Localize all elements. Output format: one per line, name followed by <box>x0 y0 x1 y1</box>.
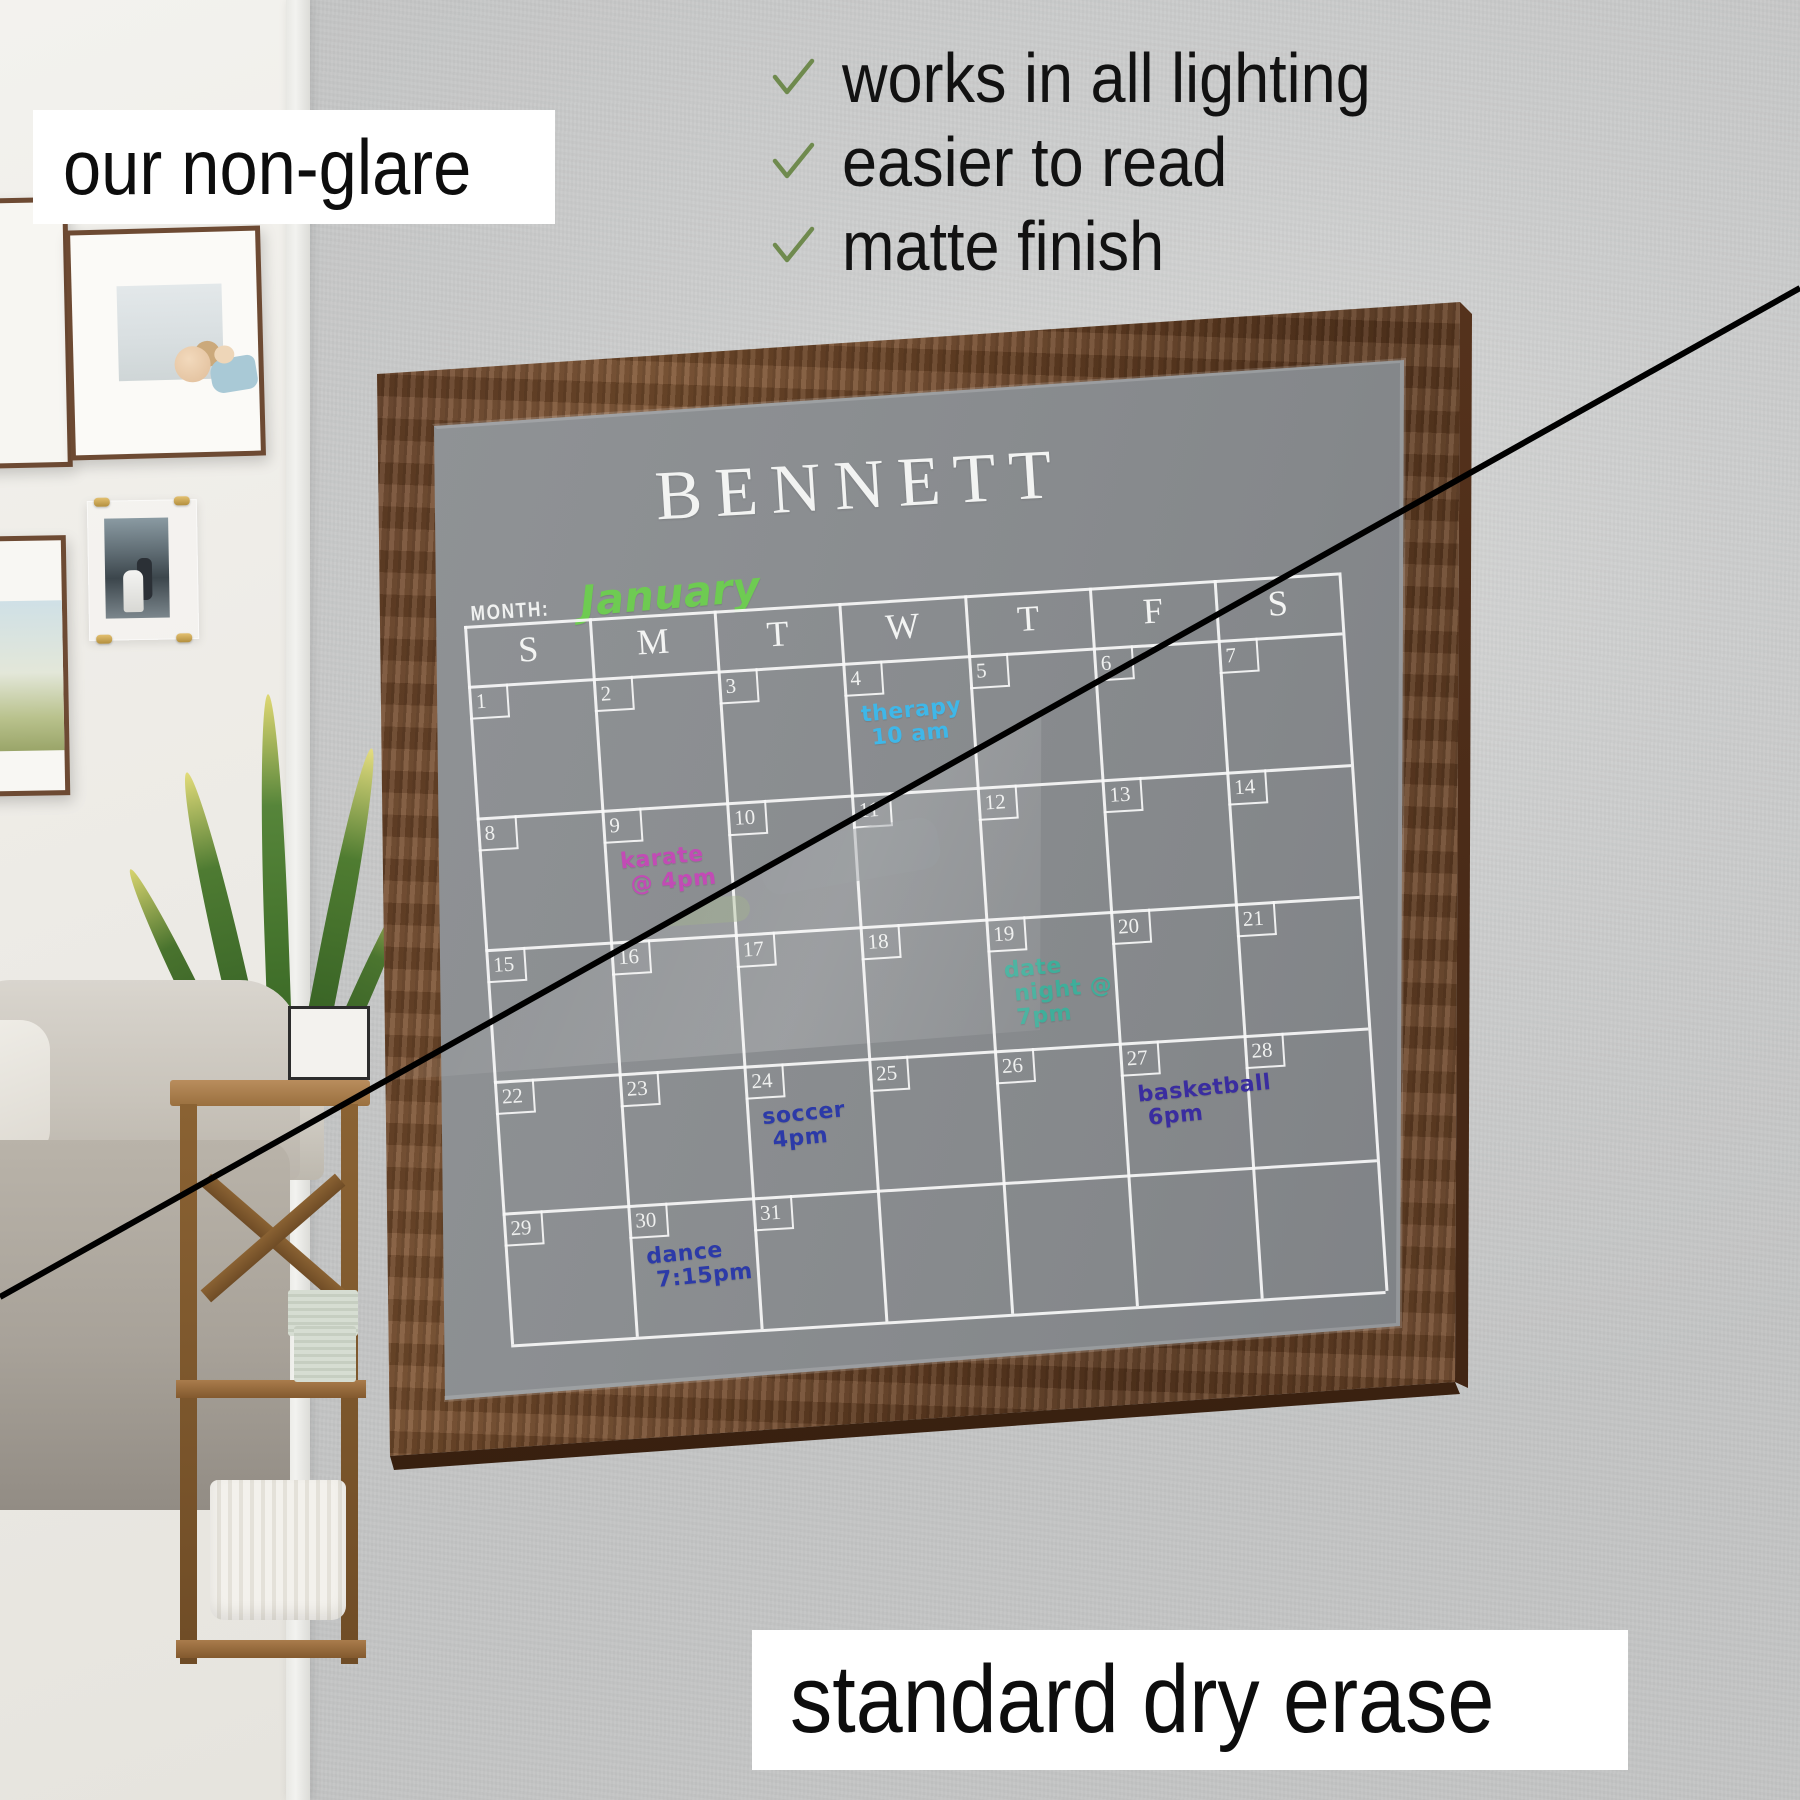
date-number: 3 <box>725 674 737 700</box>
date-number: 5 <box>975 658 987 684</box>
feature-bullet-label: matte finish <box>842 206 1164 286</box>
standoff-tr <box>174 496 190 505</box>
date-number: 8 <box>484 821 496 847</box>
baby-head <box>174 346 211 383</box>
date-number: 15 <box>492 952 515 978</box>
wedding-photo <box>104 518 170 619</box>
standoff-br <box>176 633 192 642</box>
label-standard-dry-erase-text: standard dry erase <box>790 1645 1494 1755</box>
board-subtitle: FAMILY <box>360 296 502 332</box>
day-of-week-header: M <box>589 617 717 677</box>
subtitle-rule-left <box>361 296 665 317</box>
check-icon <box>770 223 816 269</box>
date-number: 10 <box>733 805 756 831</box>
standoff-bl <box>96 635 112 644</box>
feature-bullet-label: works in all lighting <box>842 38 1371 118</box>
bride-figure <box>123 570 144 612</box>
check-icon <box>770 55 816 101</box>
feature-bullet-1: works in all lighting <box>770 36 1780 120</box>
board-subtitle-row: FAMILY <box>361 296 980 317</box>
standoff-tl <box>94 498 110 507</box>
date-number: 4 <box>849 666 861 692</box>
day-of-week-header: S <box>464 624 592 684</box>
acrylic-float-frame <box>87 499 199 641</box>
feature-bullet-2: easier to read <box>770 120 1780 204</box>
board-family-name: BENNETT <box>548 429 1172 543</box>
subtitle-rule-right <box>676 296 980 298</box>
feature-bullet-list: works in all lightingeasier to readmatte… <box>770 36 1780 288</box>
label-standard-dry-erase: standard dry erase <box>752 1630 1628 1770</box>
photo <box>116 284 223 382</box>
check-icon <box>770 139 816 185</box>
mat <box>70 231 261 456</box>
label-non-glare-text: our non-glare <box>63 122 471 213</box>
day-of-week-header: T <box>964 594 1092 654</box>
date-number: 1 <box>475 689 487 715</box>
calendar-handwritten-note[interactable]: karate@ 4pm <box>619 842 717 898</box>
feature-bullet-label: easier to read <box>842 122 1227 202</box>
framed-photo-baby <box>65 225 266 460</box>
tabletop-photo-frame <box>288 1006 370 1080</box>
comparison-graphic: BENNETT FAMILY MONTH: January SMTWTFS123… <box>0 0 1800 1800</box>
framed-art-top-left <box>0 197 73 469</box>
date-number: 9 <box>609 813 621 839</box>
feature-bullet-3: matte finish <box>770 204 1780 288</box>
date-number: 6 <box>1100 651 1112 677</box>
day-of-week-header: W <box>839 601 967 661</box>
photo <box>0 600 64 751</box>
day-of-week-header: T <box>714 609 842 669</box>
throw-pillow <box>0 1020 50 1160</box>
framed-art-landscape <box>0 535 70 797</box>
label-non-glare: our non-glare <box>33 110 555 224</box>
date-number: 2 <box>600 681 612 707</box>
mat <box>0 540 65 792</box>
table-top <box>170 1080 370 1106</box>
calendar-handwritten-note[interactable]: therapy10 am <box>860 694 965 751</box>
mat <box>0 202 68 464</box>
